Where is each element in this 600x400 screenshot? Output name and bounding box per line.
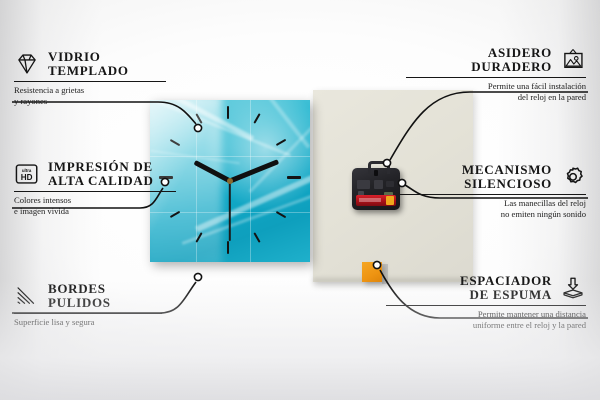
- feature-titles: ESPACIADOR DE ESPUMA: [460, 274, 552, 302]
- mechanism-battery: [356, 195, 396, 206]
- feature-heading: VIDRIO TEMPLADO: [14, 50, 194, 78]
- diamond-icon: [14, 52, 40, 76]
- glass-seam: [150, 156, 310, 157]
- feature-impresion-alta-calidad: ultra HD IMPRESIÓN DE ALTA CALIDAD Color…: [14, 160, 204, 218]
- feature-description: Permite una fácil instalación del reloj …: [406, 81, 586, 104]
- feature-divider: [406, 77, 586, 79]
- infographic-canvas: VIDRIO TEMPLADO Resistencia a grietas y …: [0, 0, 600, 400]
- mechanism-spindle: [374, 170, 378, 176]
- feature-title-line2: DURADERO: [471, 60, 552, 74]
- feature-divider: [14, 81, 166, 83]
- feature-title-line1: ESPACIADOR: [460, 274, 552, 288]
- clock-tick: [227, 241, 229, 254]
- feature-title-line2: TEMPLADO: [48, 64, 129, 78]
- ultra-hd-icon: ultra HD: [14, 162, 40, 186]
- feature-espaciador-de-espuma: ESPACIADOR DE ESPUMA Permite mantener un…: [386, 274, 586, 332]
- feature-title-line1: IMPRESIÓN DE: [48, 160, 154, 174]
- feature-heading: BORDES PULIDOS: [14, 282, 199, 310]
- feature-heading: MECANISMO SILENCIOSO: [400, 163, 586, 191]
- battery-label: [359, 198, 381, 202]
- feature-heading: ultra HD IMPRESIÓN DE ALTA CALIDAD: [14, 160, 204, 188]
- feature-title-line1: VIDRIO: [48, 50, 129, 64]
- feature-description: Las manecillas del reloj no emiten ningú…: [400, 198, 586, 221]
- mechanism-detail: [357, 180, 370, 189]
- clock-second-hand: [229, 181, 231, 241]
- feature-title-line2: PULIDOS: [48, 296, 111, 310]
- hanging-picture-icon: [560, 48, 586, 72]
- feature-title-line1: ASIDERO: [471, 46, 552, 60]
- glass-seam: [250, 100, 251, 262]
- feature-description: Permite mantener una distancia uniforme …: [386, 309, 586, 332]
- mechanism-detail: [374, 180, 383, 189]
- clock-tick: [253, 232, 260, 243]
- battery-positive-terminal: [386, 196, 394, 205]
- feature-mecanismo-silencioso: MECANISMO SILENCIOSO Las manecillas del …: [400, 163, 586, 221]
- clock-tick: [227, 106, 229, 119]
- feature-title-line2: SILENCIOSO: [462, 177, 552, 191]
- feature-bordes-pulidos: BORDES PULIDOS Superficie lisa y segura: [14, 282, 199, 328]
- feature-titles: IMPRESIÓN DE ALTA CALIDAD: [48, 160, 154, 188]
- feature-title-line2: ALTA CALIDAD: [48, 174, 154, 188]
- feature-divider: [14, 191, 176, 193]
- feature-vidrio-templado: VIDRIO TEMPLADO Resistencia a grietas y …: [14, 50, 194, 108]
- feature-title-line1: BORDES: [48, 282, 111, 296]
- gear-icon: [560, 165, 586, 189]
- feature-titles: BORDES PULIDOS: [48, 282, 111, 310]
- feature-description: Resistencia a grietas y rayones: [14, 85, 194, 108]
- ultra-hd-main-label: HD: [21, 173, 33, 182]
- feature-titles: MECANISMO SILENCIOSO: [462, 163, 552, 191]
- feature-titles: VIDRIO TEMPLADO: [48, 50, 129, 78]
- feature-heading: ESPACIADOR DE ESPUMA: [386, 274, 586, 302]
- feature-asidero-duradero: ASIDERO DURADERO Permite una fácil insta…: [406, 46, 586, 104]
- mechanism-hanger-hook: [368, 161, 390, 174]
- clock-center-cap: [227, 178, 233, 184]
- feature-divider: [14, 313, 162, 315]
- clock-tick: [287, 176, 301, 179]
- feature-heading: ASIDERO DURADERO: [406, 46, 586, 74]
- feature-divider: [386, 305, 586, 307]
- feature-title-line1: MECANISMO: [462, 163, 552, 177]
- arrow-down-layers-icon: [560, 276, 586, 300]
- feature-description: Colores intensos e imagen vívida: [14, 195, 204, 218]
- foam-spacer: [362, 262, 382, 282]
- feature-divider: [400, 194, 586, 196]
- feature-description: Superficie lisa y segura: [14, 317, 199, 328]
- clock-tick: [253, 113, 260, 124]
- polished-edges-icon: [14, 284, 40, 308]
- feature-title-line2: DE ESPUMA: [460, 288, 552, 302]
- mechanism-detail: [386, 181, 394, 187]
- feature-titles: ASIDERO DURADERO: [471, 46, 552, 74]
- silent-clock-mechanism: [352, 168, 400, 210]
- clock-tick: [276, 139, 287, 146]
